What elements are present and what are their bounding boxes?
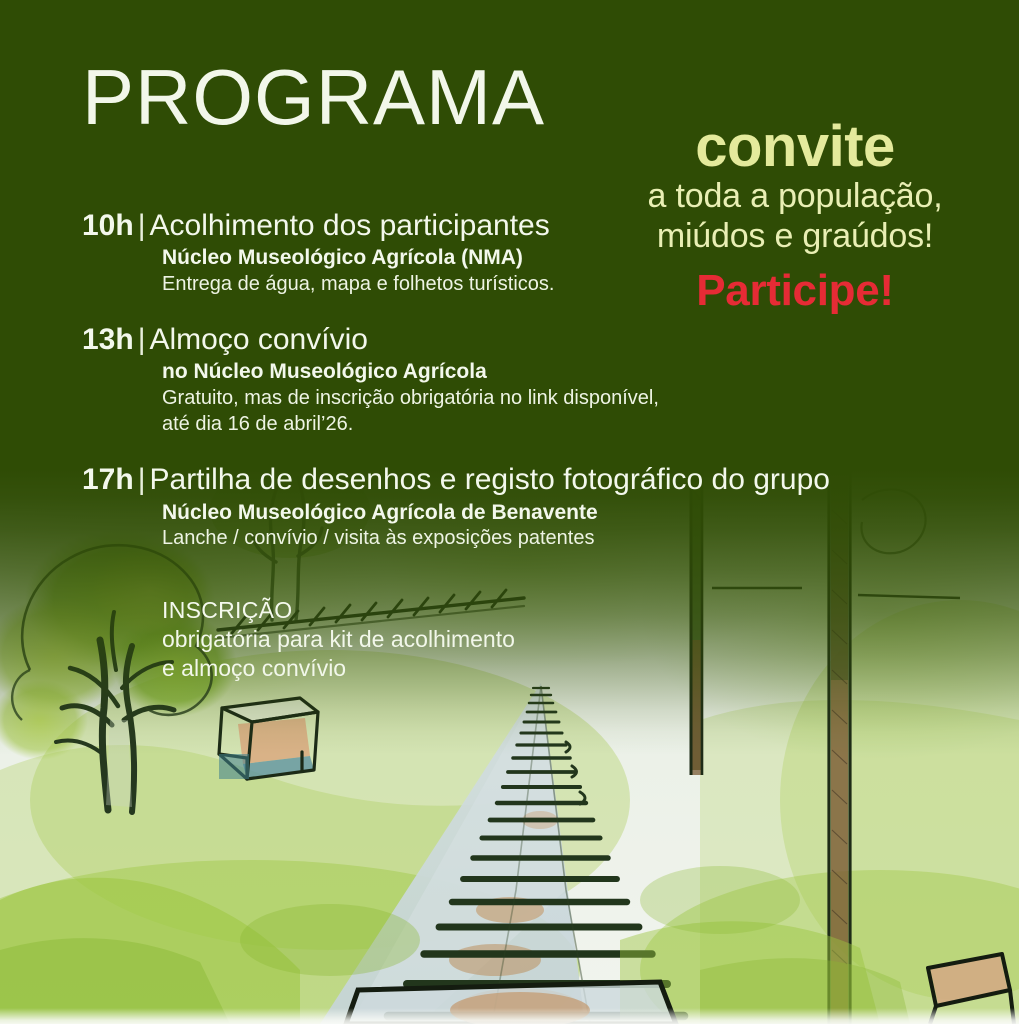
schedule-item-title: Acolhimento dos participantes — [150, 209, 550, 242]
registration-heading: INSCRIÇÃO — [162, 596, 515, 625]
schedule-item-detail: Gratuito, mas de inscrição obrigatória n… — [162, 385, 852, 411]
schedule-item-head: 17h|Partilha de desenhos e registo fotog… — [82, 462, 852, 497]
invite-headline: convite — [605, 118, 985, 176]
poster-root: PROGRAMA convite a toda a população, miú… — [0, 0, 1019, 1024]
page-title: PROGRAMA — [82, 58, 545, 136]
schedule-item-separator: | — [134, 323, 150, 356]
schedule-item-venue: Núcleo Museológico Agrícola de Benavente — [162, 500, 852, 525]
registration-line-2: e almoço convívio — [162, 654, 515, 683]
text-layer: PROGRAMA convite a toda a população, miú… — [0, 0, 1019, 1024]
schedule-item: 13h|Almoço convívio no Núcleo Museológic… — [82, 322, 852, 437]
schedule-item: 17h|Partilha de desenhos e registo fotog… — [82, 462, 852, 551]
schedule-item-head: 13h|Almoço convívio — [82, 322, 852, 357]
schedule-item-separator: | — [134, 209, 150, 242]
schedule-item-title: Almoço convívio — [150, 323, 368, 356]
schedule-item-time: 10h — [82, 209, 134, 242]
schedule-item-detail: Lanche / convívio / visita às exposições… — [162, 525, 852, 551]
schedule-item-detail: até dia 16 de abril’26. — [162, 411, 852, 437]
schedule-item-detail: Entrega de água, mapa e folhetos turísti… — [162, 271, 852, 297]
schedule-item-head: 10h|Acolhimento dos participantes — [82, 208, 852, 243]
registration-line-1: obrigatória para kit de acolhimento — [162, 625, 515, 654]
schedule-item-venue: Núcleo Museológico Agrícola (NMA) — [162, 245, 852, 270]
schedule-item-time: 17h — [82, 463, 134, 496]
schedule-item-separator: | — [134, 463, 150, 496]
schedule-item-venue: no Núcleo Museológico Agrícola — [162, 359, 852, 384]
schedule-list: 10h|Acolhimento dos participantes Núcleo… — [82, 208, 852, 576]
schedule-item-title: Partilha de desenhos e registo fotográfi… — [150, 463, 830, 496]
schedule-item: 10h|Acolhimento dos participantes Núcleo… — [82, 208, 852, 297]
registration-block: INSCRIÇÃO obrigatória para kit de acolhi… — [162, 596, 515, 684]
schedule-item-time: 13h — [82, 323, 134, 356]
